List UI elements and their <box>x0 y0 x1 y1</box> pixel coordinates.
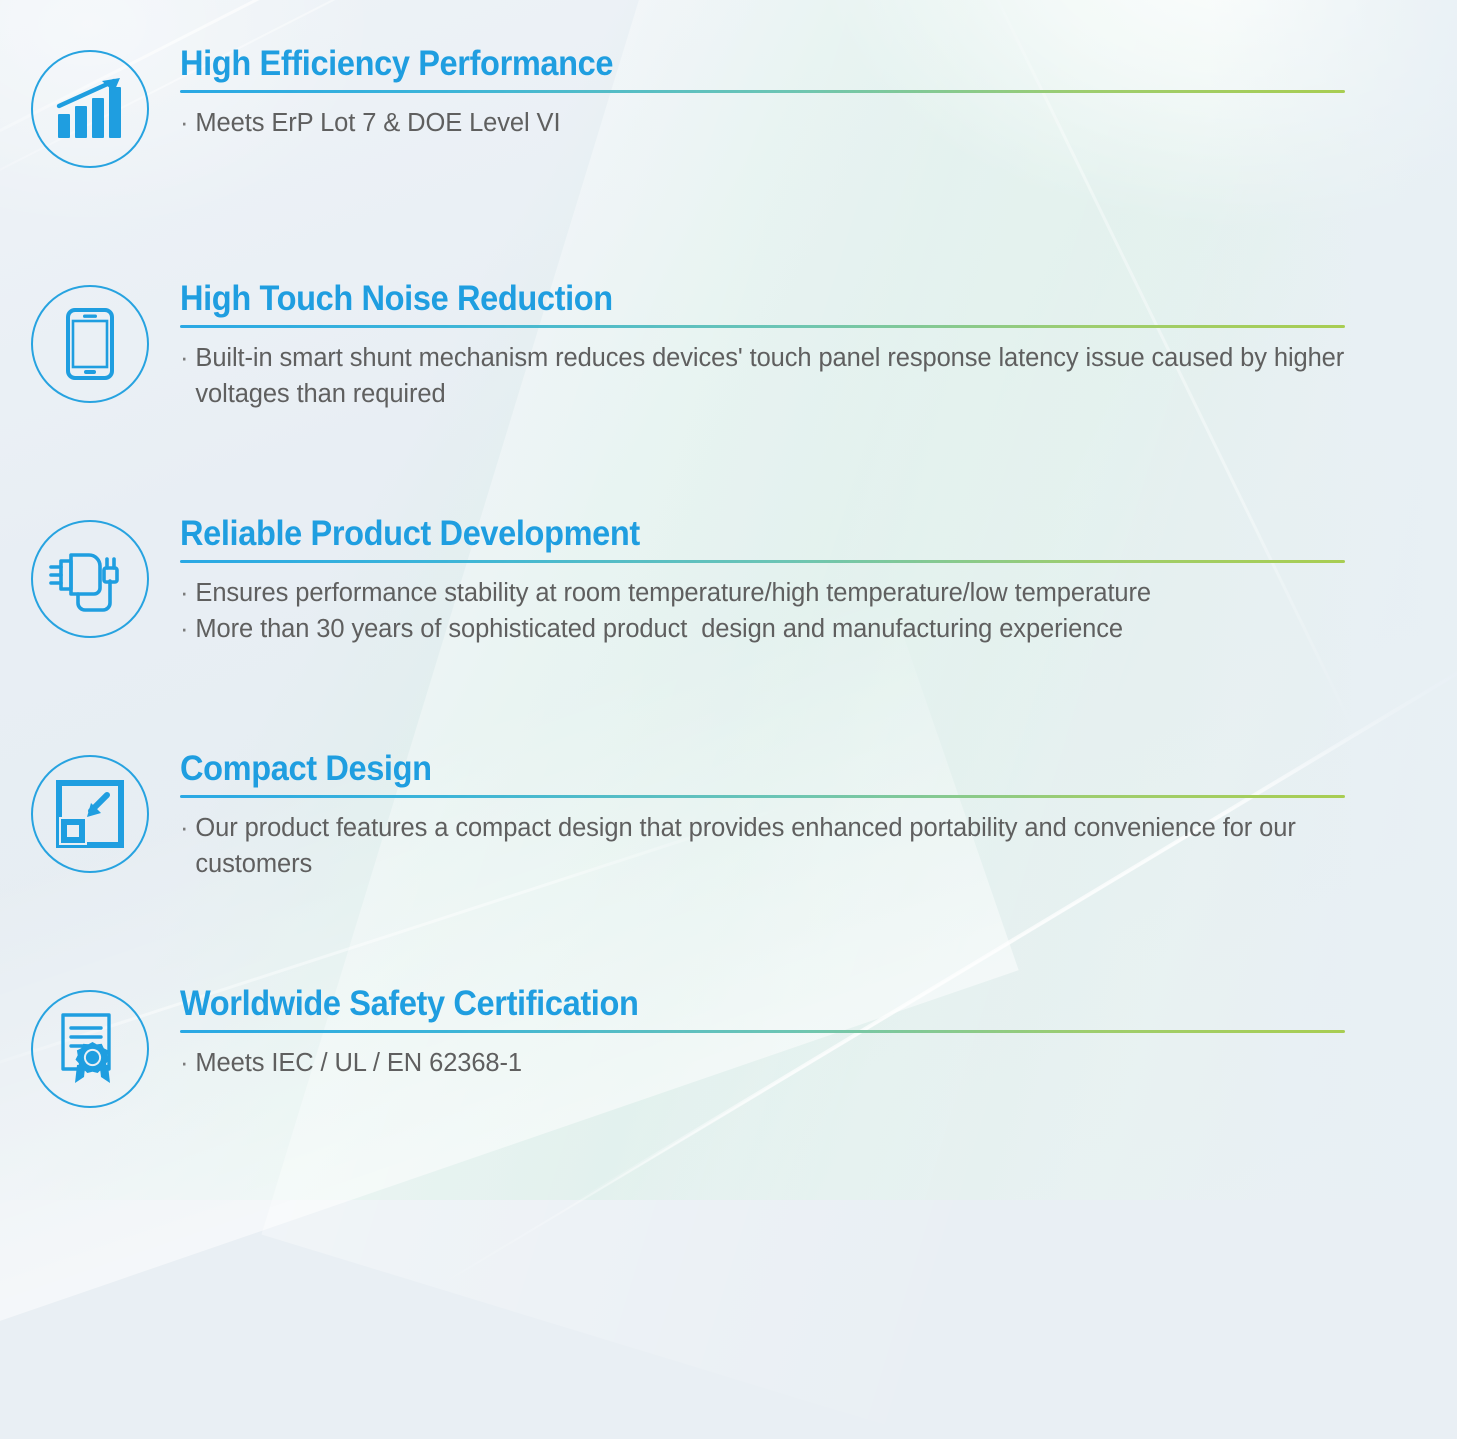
bullet-marker: · <box>180 611 188 647</box>
list-item: · Ensures performance stability at room … <box>180 575 1375 611</box>
feature-body: High Touch Noise Reduction · Built-in sm… <box>180 279 1457 413</box>
feature-bullet-list: · Ensures performance stability at room … <box>180 575 1375 647</box>
smartphone-icon <box>31 285 149 403</box>
feature-icon-container <box>0 984 180 1108</box>
feature-item-high-touch-noise-reduction: High Touch Noise Reduction · Built-in sm… <box>0 279 1457 413</box>
compact-resize-icon <box>31 755 149 873</box>
list-item: · More than 30 years of sophisticated pr… <box>180 611 1375 647</box>
feature-item-worldwide-safety-certification: Worldwide Safety Certification · Meets I… <box>0 984 1457 1108</box>
bullet-marker: · <box>180 810 188 882</box>
feature-icon-container <box>0 44 180 168</box>
bullet-marker: · <box>180 340 188 412</box>
feature-title: High Touch Noise Reduction <box>180 279 1291 318</box>
bullet-text: Ensures performance stability at room te… <box>195 575 1375 611</box>
feature-title: Worldwide Safety Certification <box>180 984 1291 1023</box>
bullet-marker: · <box>180 105 188 141</box>
feature-icon-container <box>0 279 180 403</box>
feature-body: Worldwide Safety Certification · Meets I… <box>180 984 1457 1081</box>
list-item: · Meets IEC / UL / EN 62368-1 <box>180 1045 1375 1081</box>
feature-item-high-efficiency-performance: High Efficiency Performance · Meets ErP … <box>0 44 1457 168</box>
feature-icon-container <box>0 514 180 638</box>
feature-bullet-list: · Built-in smart shunt mechanism reduces… <box>180 340 1375 412</box>
list-item: · Built-in smart shunt mechanism reduces… <box>180 340 1375 412</box>
feature-bullet-list: · Our product features a compact design … <box>180 810 1375 882</box>
feature-bullet-list: · Meets ErP Lot 7 & DOE Level VI <box>180 105 1375 141</box>
certificate-seal-icon <box>31 990 149 1108</box>
feature-icon-container <box>0 749 180 873</box>
feature-divider <box>180 560 1345 563</box>
feature-body: High Efficiency Performance · Meets ErP … <box>180 44 1457 141</box>
feature-body: Reliable Product Development · Ensures p… <box>180 514 1457 648</box>
feature-body: Compact Design · Our product features a … <box>180 749 1457 883</box>
bullet-text: Meets ErP Lot 7 & DOE Level VI <box>195 105 1375 141</box>
feature-divider <box>180 90 1345 93</box>
feature-divider <box>180 325 1345 328</box>
feature-divider <box>180 795 1345 798</box>
feature-bullet-list: · Meets IEC / UL / EN 62368-1 <box>180 1045 1375 1081</box>
feature-title: Reliable Product Development <box>180 514 1291 553</box>
bullet-text: Our product features a compact design th… <box>195 810 1375 882</box>
bullet-text: More than 30 years of sophisticated prod… <box>195 611 1375 647</box>
feature-title: High Efficiency Performance <box>180 44 1291 83</box>
feature-item-reliable-product-development: Reliable Product Development · Ensures p… <box>0 514 1457 648</box>
bullet-text: Meets IEC / UL / EN 62368-1 <box>195 1045 1375 1081</box>
bullet-marker: · <box>180 575 188 611</box>
feature-divider <box>180 1030 1345 1033</box>
bullet-marker: · <box>180 1045 188 1081</box>
power-adapter-icon <box>31 520 149 638</box>
feature-list: High Efficiency Performance · Meets ErP … <box>0 0 1457 1200</box>
feature-item-compact-design: Compact Design · Our product features a … <box>0 749 1457 883</box>
bullet-text: Built-in smart shunt mechanism reduces d… <box>195 340 1375 412</box>
feature-title: Compact Design <box>180 749 1291 788</box>
list-item: · Our product features a compact design … <box>180 810 1375 882</box>
bar-chart-growth-icon <box>31 50 149 168</box>
list-item: · Meets ErP Lot 7 & DOE Level VI <box>180 105 1375 141</box>
